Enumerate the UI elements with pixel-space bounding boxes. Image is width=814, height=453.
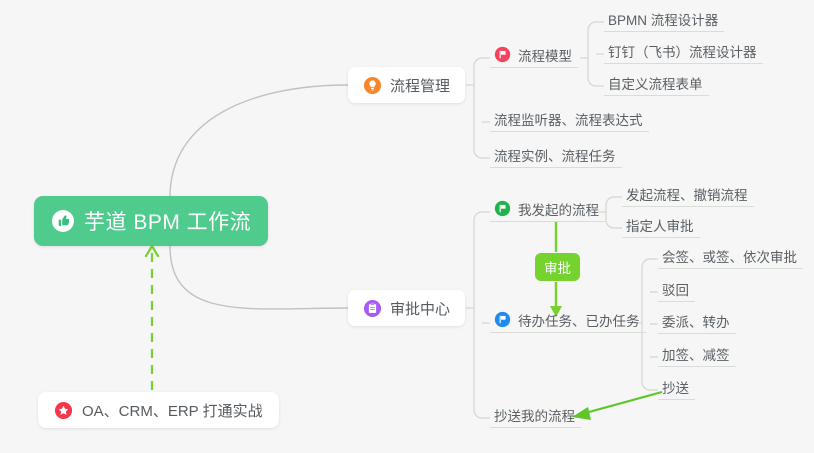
node-cc-to-me[interactable]: 抄送我的流程 <box>490 406 581 428</box>
mindmap-canvas: 芋道 BPM 工作流 流程管理 流程模型 BPMN 流程设计器 钉钉（飞书）流程 <box>0 0 814 453</box>
node-add-remove-sign[interactable]: 加签、减签 <box>658 345 736 367</box>
root-label: 芋道 BPM 工作流 <box>84 206 251 236</box>
label-start-cancel-process: 发起流程、撤销流程 <box>626 184 748 204</box>
node-designated-approval[interactable]: 指定人审批 <box>622 216 700 238</box>
root-node[interactable]: 芋道 BPM 工作流 <box>34 196 268 246</box>
thumbs-up-icon <box>51 209 75 233</box>
link-root-to-process-management <box>170 85 348 197</box>
label-my-initiated: 我发起的流程 <box>518 199 599 219</box>
label-delegate-transfer: 委派、转办 <box>662 311 730 331</box>
branch-node-process-management[interactable]: 流程管理 <box>348 67 465 103</box>
label-carbon-copy: 抄送 <box>662 377 689 397</box>
label-add-remove-sign: 加签、减签 <box>662 344 730 364</box>
annotation-dashed-arrowhead <box>146 246 158 256</box>
annotation-approve-callout: 审批 <box>535 253 580 281</box>
link-approval-center-spine <box>474 212 482 418</box>
branch-node-approval-center[interactable]: 审批中心 <box>348 290 465 326</box>
label-process-instance: 流程实例、流程任务 <box>494 145 616 165</box>
lightbulb-icon <box>363 76 382 95</box>
branch-label-approval-center: 审批中心 <box>390 298 450 319</box>
clipboard-icon <box>363 299 382 318</box>
node-countersign[interactable]: 会签、或签、依次审批 <box>658 247 803 269</box>
node-bpmn-designer[interactable]: BPMN 流程设计器 <box>604 10 724 32</box>
node-process-listener[interactable]: 流程监听器、流程表达式 <box>490 110 649 132</box>
label-dingtalk-designer: 钉钉（飞书）流程设计器 <box>608 41 757 61</box>
label-reject: 驳回 <box>662 279 689 299</box>
link-process-management-spine <box>474 58 482 158</box>
node-custom-form[interactable]: 自定义流程表单 <box>604 74 709 96</box>
label-countersign: 会签、或签、依次审批 <box>662 246 797 266</box>
label-designated-approval: 指定人审批 <box>626 215 694 235</box>
card-label-integration: OA、CRM、ERP 打通实战 <box>82 400 263 421</box>
link-my-initiated-spine <box>606 197 614 228</box>
star-icon <box>54 401 73 420</box>
label-bpmn-designer: BPMN 流程设计器 <box>608 9 718 29</box>
node-process-instance[interactable]: 流程实例、流程任务 <box>490 146 622 168</box>
label-process-model: 流程模型 <box>518 45 572 65</box>
flag-icon <box>494 200 511 217</box>
label-cc-to-me: 抄送我的流程 <box>494 405 575 425</box>
node-delegate-transfer[interactable]: 委派、转办 <box>658 312 736 334</box>
card-node-integration[interactable]: OA、CRM、ERP 打通实战 <box>38 392 279 428</box>
label-process-listener: 流程监听器、流程表达式 <box>494 109 643 129</box>
flag-icon <box>494 46 511 63</box>
annotation-arrow-cc <box>578 392 662 415</box>
branch-label-process-management: 流程管理 <box>390 75 450 96</box>
label-todo-done-tasks: 待办任务、已办任务 <box>518 310 640 330</box>
node-my-initiated[interactable]: 我发起的流程 <box>490 200 605 222</box>
node-carbon-copy[interactable]: 抄送 <box>658 378 695 400</box>
annotation-approve-label: 审批 <box>544 257 571 277</box>
link-process-model-spine <box>588 22 596 86</box>
flag-icon <box>494 311 511 328</box>
label-custom-form: 自定义流程表单 <box>608 73 703 93</box>
link-root-to-approval-center <box>170 246 348 309</box>
node-todo-done-tasks[interactable]: 待办任务、已办任务 <box>490 311 646 333</box>
node-dingtalk-designer[interactable]: 钉钉（飞书）流程设计器 <box>604 42 763 64</box>
node-start-cancel-process[interactable]: 发起流程、撤销流程 <box>622 185 754 207</box>
node-process-model[interactable]: 流程模型 <box>490 46 578 68</box>
node-reject[interactable]: 驳回 <box>658 280 695 302</box>
